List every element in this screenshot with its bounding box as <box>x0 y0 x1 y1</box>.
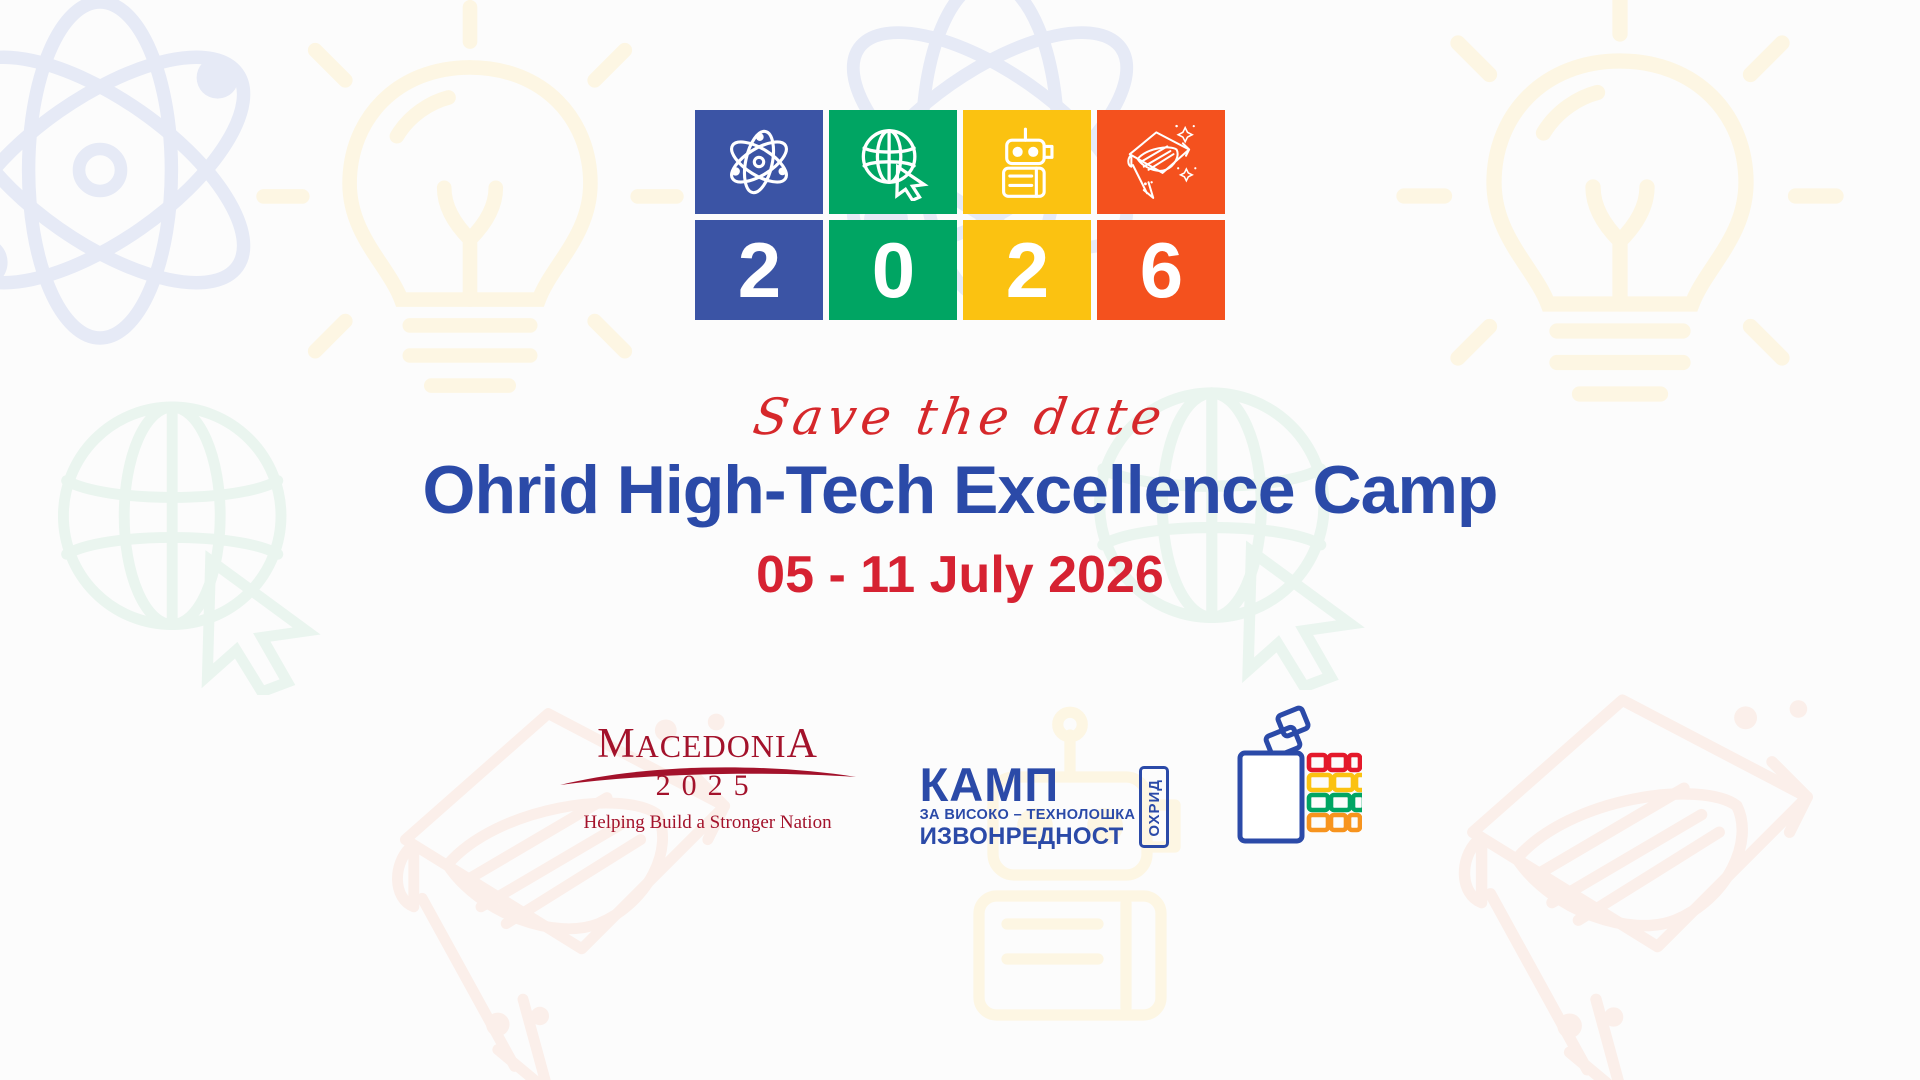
logo-year-digit-3: 2 <box>963 220 1091 320</box>
macedonia-tagline: Helping Build a Stronger Nation <box>558 813 858 832</box>
event-logo: 2 0 2 6 <box>695 110 1225 320</box>
logo-tile-robot <box>963 110 1091 214</box>
kamp-ohrid-logo: КАМП ЗА ВИСОКО – ТЕХНОЛОШКА ИЗВОНРЕДНОСТ… <box>920 705 1363 849</box>
robot-icon <box>988 123 1066 201</box>
kamp-main-label: КАМП <box>920 763 1060 808</box>
macedonia-initial: M <box>597 721 635 767</box>
logo-icon-row <box>695 110 1225 214</box>
atom-icon <box>720 123 798 201</box>
macedonia-rest: ACEDONI <box>636 728 787 764</box>
logo-tile-atom <box>695 110 823 214</box>
logo-tile-globe <box>829 110 957 214</box>
poster-stage: 2 0 2 6 Save the date Ohrid High-Tech Ex… <box>0 0 1920 1080</box>
ohrid-chip-label: ОХРИД <box>1146 779 1163 837</box>
macedonia-year: 2025 <box>558 771 858 801</box>
save-the-date-label: Save the date <box>750 392 1170 442</box>
logo-year-row: 2 0 2 6 <box>695 220 1225 320</box>
kamp-screen-blocks-mark <box>1172 705 1362 855</box>
ohrid-chip: ОХРИД <box>1139 766 1169 848</box>
logo-tile-graduation-cap <box>1097 110 1225 214</box>
kamp-wordmark: КАМП ЗА ВИСОКО – ТЕХНОЛОШКА ИЗВОНРЕДНОСТ <box>920 763 1136 850</box>
page-title: Ohrid High-Tech Excellence Camp <box>0 454 1920 527</box>
macedonia-wordmark: MACEDONIA <box>558 723 858 765</box>
save-the-date-text: Save the date <box>0 392 1920 442</box>
globe-cursor-icon <box>854 123 932 201</box>
event-dates: 05 - 11 July 2026 <box>0 545 1920 605</box>
graduation-cap-icon <box>1122 123 1200 201</box>
logo-year-digit-4: 6 <box>1097 220 1225 320</box>
partner-logos: MACEDONIA 2025 Helping Build a Stronger … <box>558 705 1363 849</box>
macedonia-2025-logo: MACEDONIA 2025 Helping Build a Stronger … <box>558 723 858 832</box>
logo-year-digit-1: 2 <box>695 220 823 320</box>
kamp-subtitle-line-1: ЗА ВИСОКО – ТЕХНОЛОШКА <box>920 808 1136 824</box>
kamp-subtitle-line-2: ИЗВОНРЕДНОСТ <box>920 824 1124 849</box>
logo-year-digit-2: 0 <box>829 220 957 320</box>
headline-block: Save the date Ohrid High-Tech Excellence… <box>0 392 1920 605</box>
macedonia-last: A <box>787 721 818 767</box>
